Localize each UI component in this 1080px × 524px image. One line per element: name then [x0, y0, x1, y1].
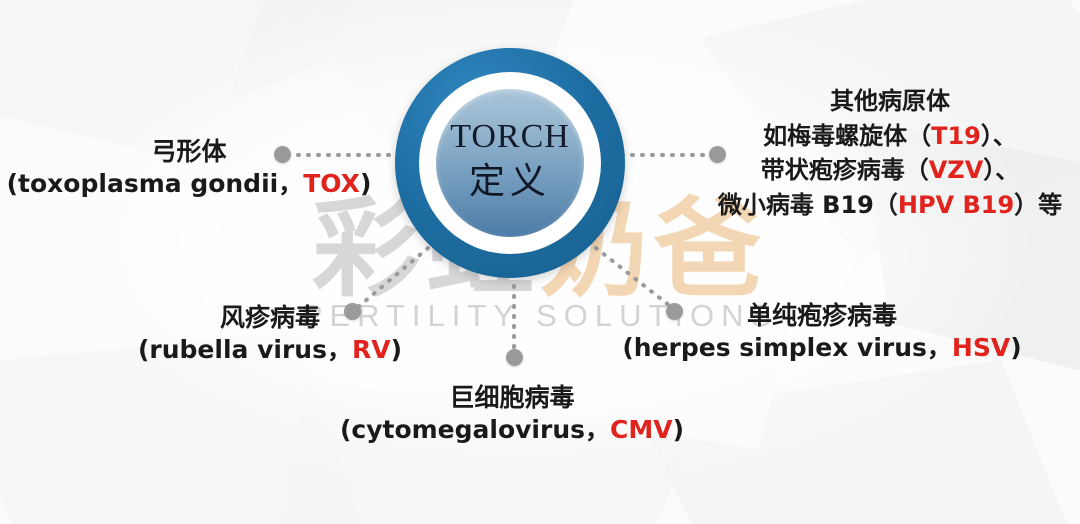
- label-toxoplasma-en-prefix: (toxoplasma gondii，: [7, 169, 304, 198]
- label-herpes-simplex-en: (herpes simplex virus，HSV): [612, 332, 1032, 364]
- label-herpes-simplex-abbr: HSV: [952, 333, 1010, 362]
- label-toxoplasma: 弓形体 (toxoplasma gondii，TOX): [0, 136, 378, 200]
- label-other-pathogens-line-2: 带状疱疹病毒（VZV）、: [700, 153, 1080, 188]
- label-other-pathogens-title: 其他病原体: [700, 84, 1080, 119]
- line-1-abbr: T19: [931, 122, 981, 150]
- connector-dot-cytomegalovirus: [506, 349, 523, 366]
- label-cytomegalovirus-en: (cytomegalovirus，CMV): [322, 414, 702, 446]
- label-cytomegalovirus-abbr: CMV: [610, 415, 673, 444]
- label-rubella-en-suffix: ): [391, 335, 402, 364]
- label-toxoplasma-cn: 弓形体: [0, 136, 378, 168]
- center-emblem: TORCH 定义: [395, 48, 625, 278]
- label-rubella-en: (rubella virus，RV): [120, 334, 420, 366]
- line-1-prefix: 如梅毒螺旋体（: [763, 122, 931, 150]
- label-herpes-simplex-en-suffix: ): [1010, 333, 1021, 362]
- label-cytomegalovirus: 巨细胞病毒 (cytomegalovirus，CMV): [322, 382, 702, 446]
- label-toxoplasma-en: (toxoplasma gondii，TOX): [0, 168, 378, 200]
- line-2-prefix: 带状疱疹病毒（: [761, 156, 929, 184]
- label-rubella-cn: 风疹病毒: [120, 302, 420, 334]
- label-toxoplasma-en-suffix: ): [360, 169, 371, 198]
- label-cytomegalovirus-en-suffix: ): [673, 415, 684, 444]
- line-3-prefix: 微小病毒 B19（: [718, 191, 898, 219]
- label-other-pathogens-line-1: 如梅毒螺旋体（T19）、: [700, 119, 1080, 154]
- label-rubella-en-prefix: (rubella virus，: [138, 335, 352, 364]
- emblem-core: TORCH 定义: [436, 89, 584, 237]
- center-title-cn: 定义: [469, 158, 551, 207]
- center-title-en: TORCH: [450, 120, 570, 154]
- label-other-pathogens: 其他病原体 如梅毒螺旋体（T19）、 带状疱疹病毒（VZV）、 微小病毒 B19…: [700, 84, 1080, 222]
- label-other-pathogens-line-3: 微小病毒 B19（HPV B19）等: [700, 188, 1080, 223]
- torch-definition-diagram: 彩虹奶爸 PERTILITY SOLUTIONS TORCH 定义 弓形体 (t…: [0, 0, 1080, 524]
- line-3-post: ）等: [1014, 191, 1062, 219]
- label-herpes-simplex: 单纯疱疹病毒 (herpes simplex virus，HSV): [612, 300, 1032, 364]
- line-1-post: ）、: [981, 122, 1017, 150]
- label-herpes-simplex-en-prefix: (herpes simplex virus，: [622, 333, 952, 362]
- label-cytomegalovirus-cn: 巨细胞病毒: [322, 382, 702, 414]
- line-2-abbr: VZV: [929, 156, 984, 184]
- label-herpes-simplex-cn: 单纯疱疹病毒: [612, 300, 1032, 332]
- line-3-abbr: HPV B19: [898, 191, 1014, 219]
- label-toxoplasma-abbr: TOX: [303, 169, 360, 198]
- line-2-post: ）、: [983, 156, 1019, 184]
- label-rubella-abbr: RV: [352, 335, 391, 364]
- label-cytomegalovirus-en-prefix: (cytomegalovirus，: [340, 415, 610, 444]
- label-rubella: 风疹病毒 (rubella virus，RV): [120, 302, 420, 366]
